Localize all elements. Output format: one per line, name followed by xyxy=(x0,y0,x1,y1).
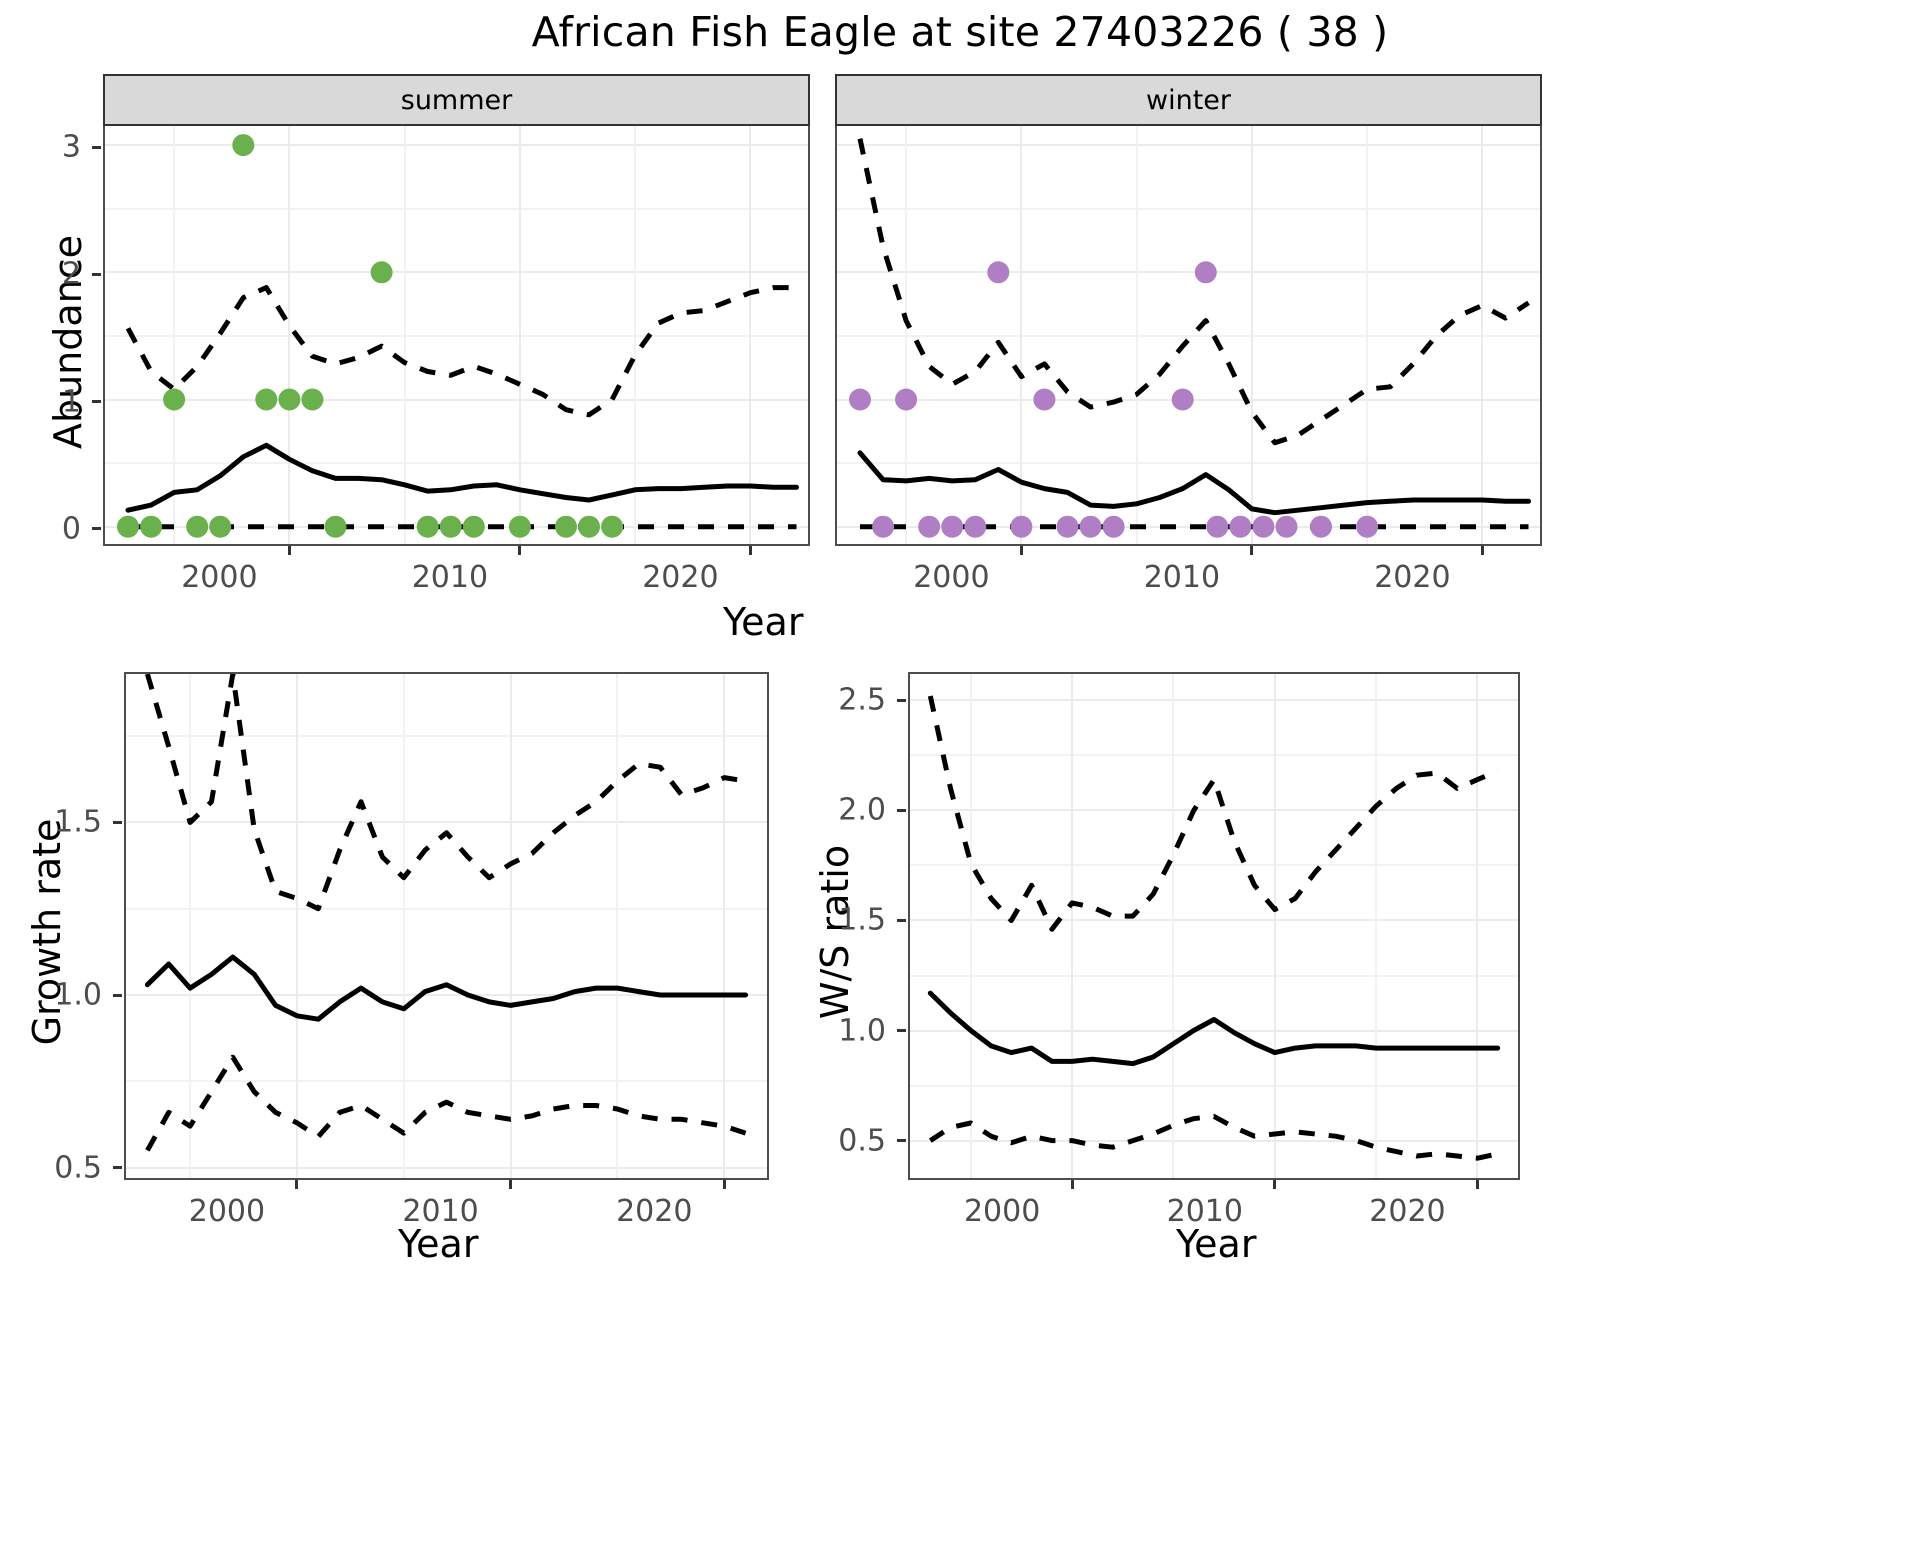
panel-growth-data-layer xyxy=(126,674,767,1178)
data-point xyxy=(578,516,600,538)
y-tick-mark xyxy=(897,699,906,702)
data-point xyxy=(1206,516,1228,538)
facet-strip-summer-label: summer xyxy=(401,85,513,116)
data-point xyxy=(555,516,577,538)
data-point xyxy=(895,389,917,411)
data-point xyxy=(1276,516,1298,538)
y-tick-mark xyxy=(897,1029,906,1032)
panel-winter-data-layer xyxy=(837,126,1540,542)
panel-growth-series-lower-ci xyxy=(147,1057,745,1150)
x-tick-mark xyxy=(1476,1180,1479,1189)
y-tick-mark xyxy=(897,1139,906,1142)
panel-ratio-series-lower-ci xyxy=(930,1116,1497,1158)
x-tick-mark xyxy=(1481,546,1484,555)
x-tick-label: 2000 xyxy=(932,1194,1072,1229)
data-point xyxy=(371,261,393,283)
y-tick-mark xyxy=(113,821,122,824)
x-tick-label: 2020 xyxy=(1342,560,1482,595)
data-point xyxy=(1033,389,1055,411)
data-point xyxy=(1010,516,1032,538)
panel-abundance-winter xyxy=(835,126,1542,546)
x-tick-label: 2010 xyxy=(380,560,520,595)
facet-strip-summer: summer xyxy=(103,74,810,126)
x-tick-label: 2020 xyxy=(610,560,750,595)
y-tick-label: 2.0 xyxy=(778,793,886,828)
panel-summer-data-layer xyxy=(105,126,808,542)
y-tick-label: 1.5 xyxy=(778,903,886,938)
y-tick-label: 1.0 xyxy=(0,978,102,1013)
y-tick-mark xyxy=(897,919,906,922)
x-tick-label: 2020 xyxy=(584,1194,724,1229)
x-tick-mark xyxy=(1020,546,1023,555)
y-tick-label: 2 xyxy=(0,257,81,292)
x-tick-mark xyxy=(723,1180,726,1189)
data-point xyxy=(918,516,940,538)
y-tick-mark xyxy=(897,809,906,812)
facet-strip-winter-label: winter xyxy=(1146,85,1231,116)
x-tick-mark xyxy=(1071,1180,1074,1189)
y-tick-label: 2.5 xyxy=(778,683,886,718)
data-point xyxy=(1195,261,1217,283)
data-point xyxy=(964,516,986,538)
data-point xyxy=(509,516,531,538)
abundance-x-axis-title: Year xyxy=(723,600,803,644)
data-point xyxy=(1356,516,1378,538)
data-point xyxy=(941,516,963,538)
x-tick-label: 2000 xyxy=(157,1194,297,1229)
y-tick-mark xyxy=(92,400,101,403)
x-tick-label: 2000 xyxy=(881,560,1021,595)
y-tick-mark xyxy=(92,273,101,276)
data-point xyxy=(232,134,254,156)
y-tick-label: 1.5 xyxy=(0,805,102,840)
x-tick-mark xyxy=(518,546,521,555)
data-point xyxy=(163,389,185,411)
panel-ratio-series-upper-ci xyxy=(930,696,1497,929)
y-tick-label: 0.5 xyxy=(778,1123,886,1158)
data-point xyxy=(1103,516,1125,538)
data-point xyxy=(601,516,623,538)
data-point xyxy=(1057,516,1079,538)
x-tick-mark xyxy=(288,546,291,555)
panel-summer-series-upper-ci xyxy=(128,288,797,415)
data-point xyxy=(417,516,439,538)
x-tick-mark xyxy=(509,1180,512,1189)
data-point xyxy=(1080,516,1102,538)
data-point xyxy=(325,516,347,538)
facet-strip-winter: winter xyxy=(835,74,1542,126)
panel-growth-rate xyxy=(124,672,769,1180)
y-tick-mark xyxy=(92,146,101,149)
page-title: African Fish Eagle at site 27403226 ( 38… xyxy=(0,8,1920,56)
panel-winter-series-median xyxy=(860,453,1529,513)
x-tick-mark xyxy=(1250,546,1253,555)
panel-ratio-data-layer xyxy=(910,674,1518,1178)
data-point xyxy=(301,389,323,411)
x-tick-label: 2010 xyxy=(1112,560,1252,595)
panel-abundance-summer xyxy=(103,126,810,546)
panel-growth-series-upper-ci xyxy=(147,674,745,909)
y-tick-mark xyxy=(113,994,122,997)
data-point xyxy=(140,516,162,538)
data-point xyxy=(117,516,139,538)
data-point xyxy=(186,516,208,538)
x-tick-mark xyxy=(295,1180,298,1189)
x-tick-label: 2000 xyxy=(149,560,289,595)
data-point xyxy=(987,261,1009,283)
data-point xyxy=(1172,389,1194,411)
figure-root: African Fish Eagle at site 27403226 ( 38… xyxy=(0,0,1920,1560)
data-point xyxy=(872,516,894,538)
x-tick-label: 2010 xyxy=(1135,1194,1275,1229)
x-tick-label: 2020 xyxy=(1337,1194,1477,1229)
data-point xyxy=(1229,516,1251,538)
y-tick-label: 1 xyxy=(0,384,81,419)
x-tick-mark xyxy=(749,546,752,555)
data-point xyxy=(1310,516,1332,538)
data-point xyxy=(849,389,871,411)
data-point xyxy=(440,516,462,538)
y-tick-label: 3 xyxy=(0,130,81,165)
y-tick-label: 0 xyxy=(0,511,81,546)
y-tick-label: 1.0 xyxy=(778,1013,886,1048)
data-point xyxy=(209,516,231,538)
panel-ratio-series-median xyxy=(930,993,1497,1064)
data-point xyxy=(463,516,485,538)
y-tick-mark xyxy=(113,1166,122,1169)
panel-winter-series-upper-ci xyxy=(860,139,1529,443)
y-tick-mark xyxy=(92,527,101,530)
data-point xyxy=(1252,516,1274,538)
panel-growth-series-median xyxy=(147,957,745,1019)
x-tick-mark xyxy=(1273,1180,1276,1189)
data-point xyxy=(278,389,300,411)
x-tick-label: 2010 xyxy=(371,1194,511,1229)
panel-ws-ratio xyxy=(908,672,1520,1180)
abundance-y-axis-title: Abundance xyxy=(46,212,90,472)
y-tick-label: 0.5 xyxy=(0,1150,102,1185)
data-point xyxy=(255,389,277,411)
panel-summer-series-median xyxy=(128,445,797,510)
